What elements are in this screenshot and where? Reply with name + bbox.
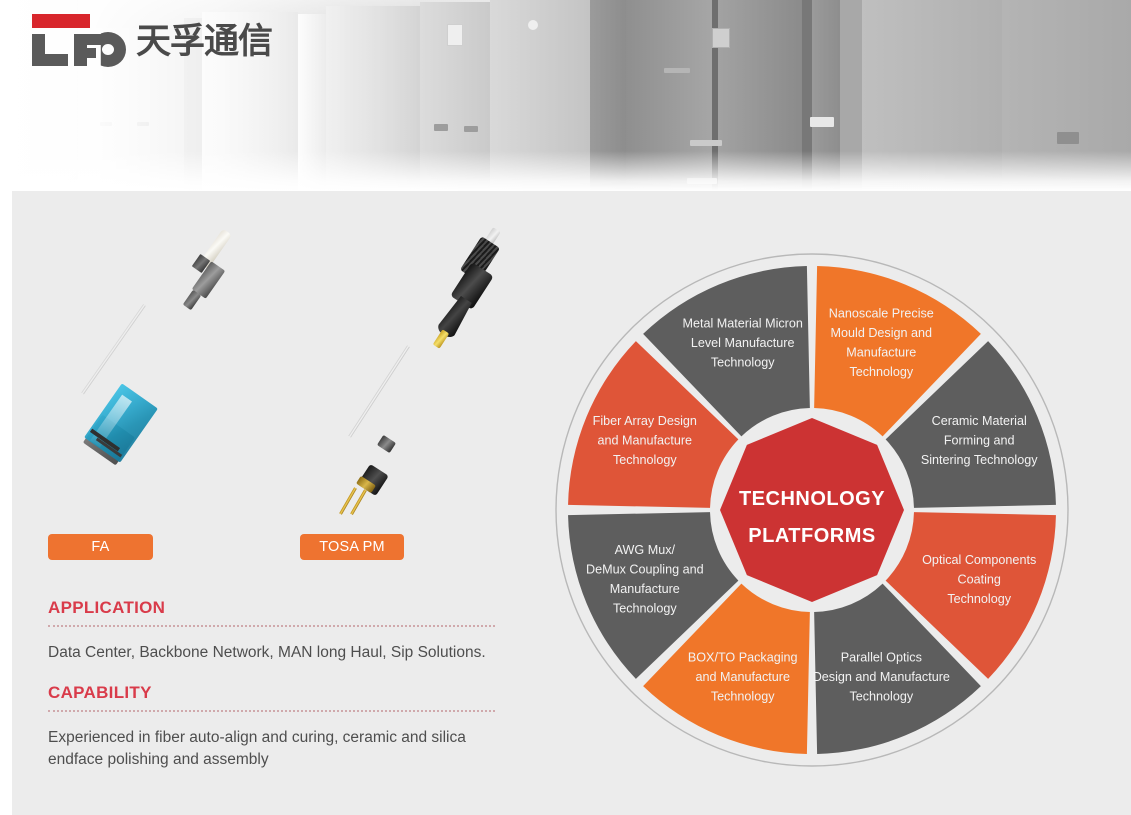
center-label-line2: PLATFORMS bbox=[748, 525, 875, 547]
capability-body: Experienced in fiber auto-align and curi… bbox=[48, 727, 518, 772]
application-heading: APPLICATION bbox=[48, 598, 165, 618]
center-label-line1: TECHNOLOGY bbox=[739, 488, 885, 510]
rack-vent bbox=[664, 68, 690, 73]
logo-letter-l-foot bbox=[32, 54, 68, 66]
logo-chinese-name: 天孚通信 bbox=[136, 25, 272, 66]
fa-product-image bbox=[75, 225, 245, 515]
application-body: Data Center, Backbone Network, MAN long … bbox=[48, 642, 508, 664]
capability-heading: CAPABILITY bbox=[48, 683, 152, 703]
fa-fiber-strand bbox=[81, 304, 145, 394]
rack-handle bbox=[434, 124, 448, 131]
ceiling-light bbox=[528, 20, 538, 30]
technology-platforms-wheel: Nanoscale PreciseMould Design andManufac… bbox=[552, 250, 1072, 770]
logo-letter-f-top bbox=[74, 34, 102, 45]
rack-vent bbox=[690, 140, 722, 146]
logo-letter-f-mid bbox=[74, 48, 96, 58]
company-logo[interactable]: 天孚通信 bbox=[28, 14, 272, 66]
fa-ferrule-tip bbox=[183, 290, 202, 310]
rack-label bbox=[712, 28, 730, 48]
logo-red-bar bbox=[32, 14, 90, 28]
tosa-pm-badge[interactable]: TOSA PM bbox=[300, 534, 404, 560]
rack-handle bbox=[464, 126, 478, 132]
capability-divider bbox=[48, 710, 495, 712]
wheel-center-octagon bbox=[720, 418, 904, 602]
tosa-pm-product-image bbox=[345, 222, 525, 517]
fa-badge[interactable]: FA bbox=[48, 534, 153, 560]
wheel-svg: Nanoscale PreciseMould Design andManufac… bbox=[552, 250, 1072, 770]
tosa-yellow-sleeve bbox=[433, 329, 450, 348]
rack-handle bbox=[1057, 132, 1079, 144]
application-divider bbox=[48, 625, 495, 627]
rack-label bbox=[447, 24, 463, 46]
tosa-fiber-strand bbox=[348, 345, 409, 437]
tosa-splice-sleeve bbox=[377, 435, 396, 453]
banner-bottom-fade bbox=[0, 151, 1131, 191]
rack-sign bbox=[810, 117, 834, 127]
lfc-logomark-icon bbox=[28, 14, 126, 66]
